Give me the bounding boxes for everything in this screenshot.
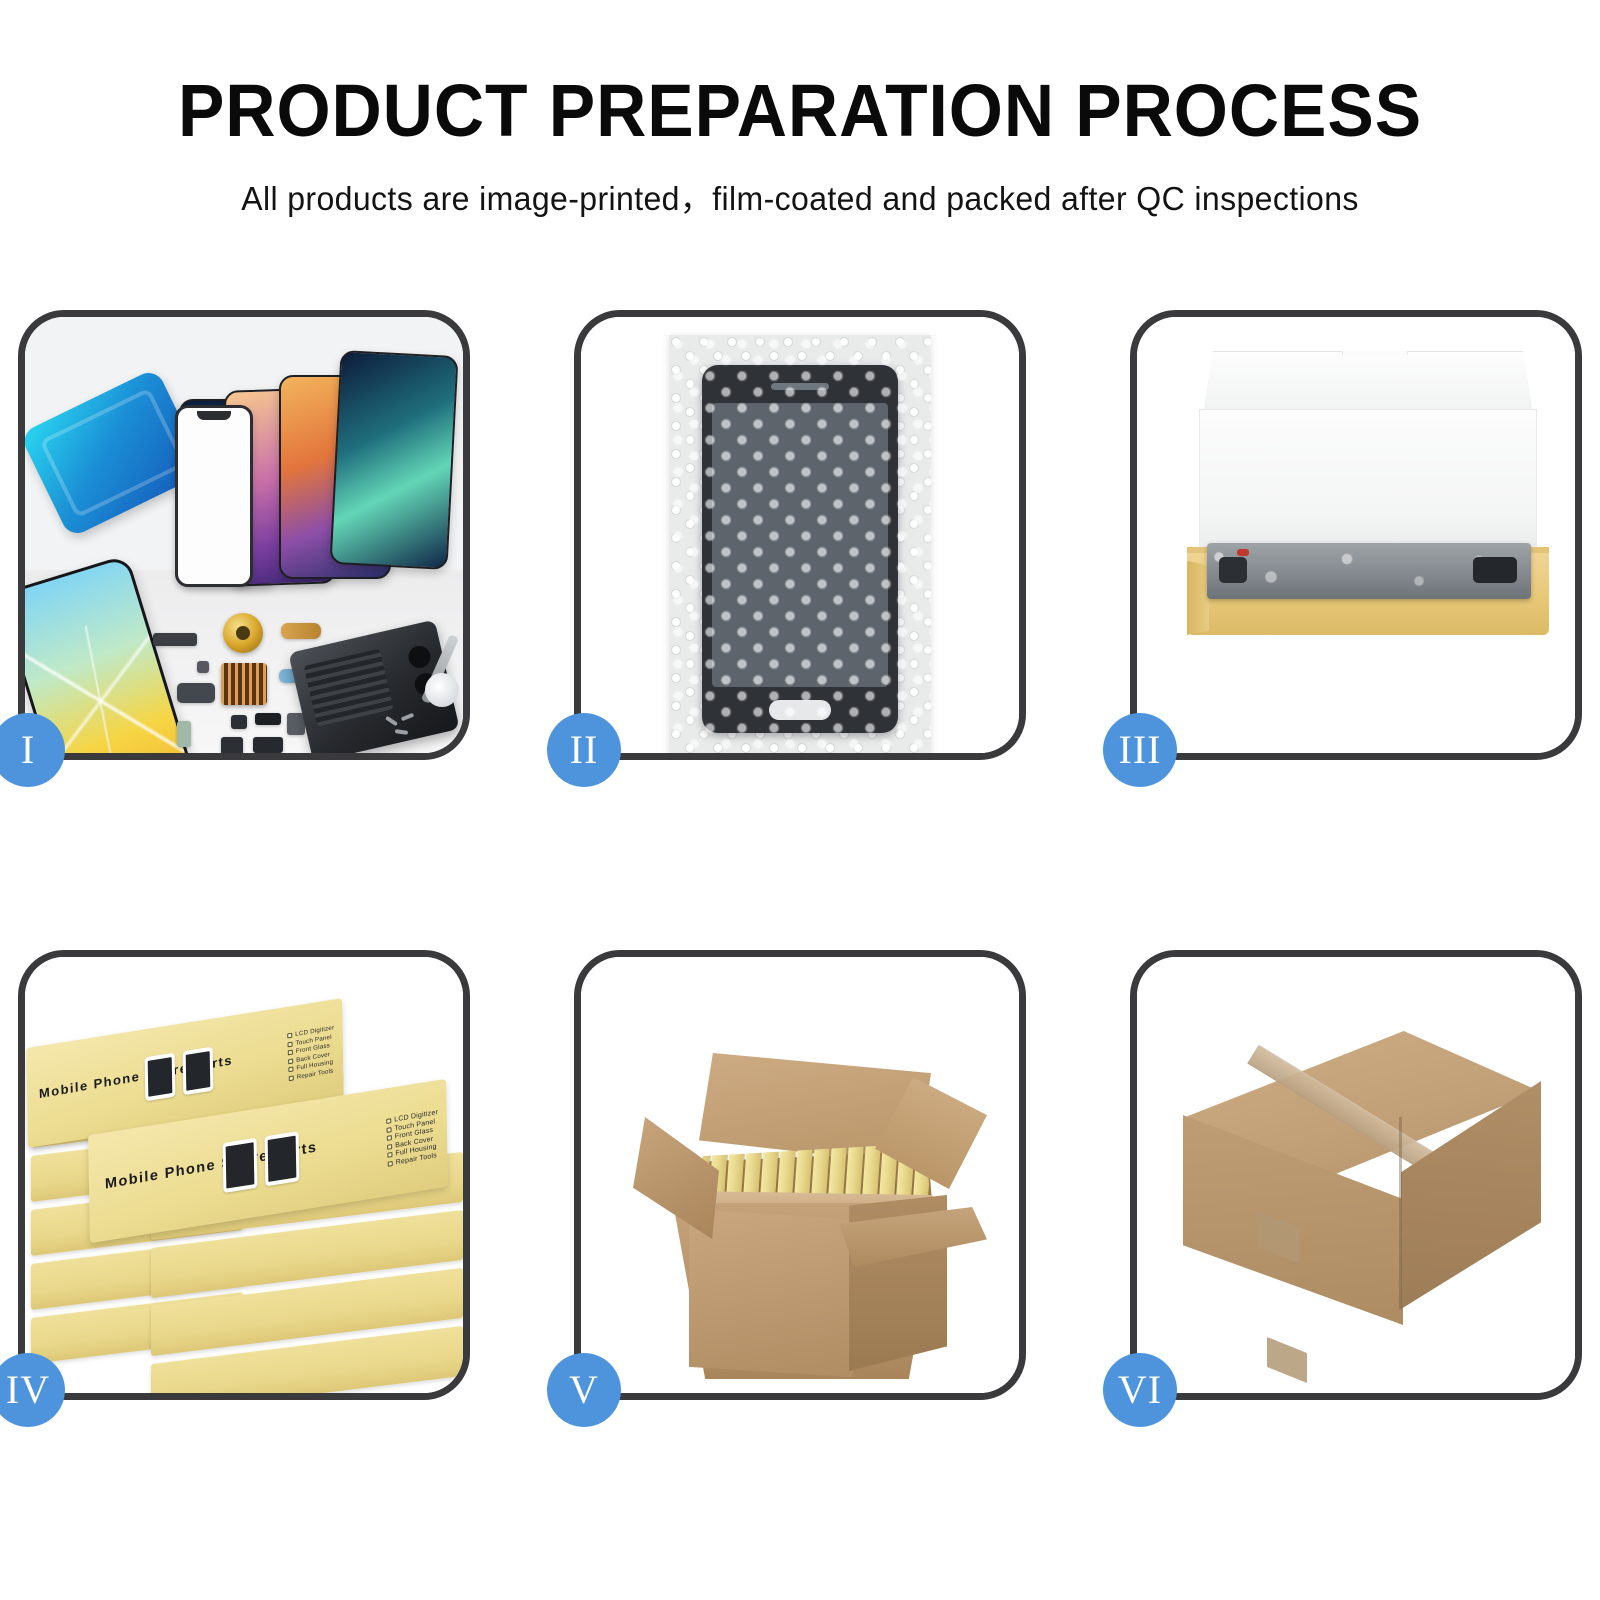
foam-lining (1199, 409, 1537, 557)
sim-tray-part (177, 721, 191, 747)
step-image-open-mailer-box (1137, 317, 1575, 753)
carton-corner-seam (1399, 1117, 1402, 1309)
open-shipping-carton-image (581, 957, 1019, 1393)
checkbox-icon (288, 1058, 293, 1064)
page-subtitle: All products are image-printed，film-coat… (24, 172, 1576, 220)
screen-pane (712, 403, 888, 687)
checkbox-icon (289, 1075, 294, 1081)
small-component-part (231, 715, 247, 729)
header: PRODUCT PREPARATION PROCESS All products… (0, 72, 1600, 220)
retail-box-checklist: LCD Digitizer Touch Panel Front Glass Ba… (386, 1109, 440, 1167)
process-step-card-4: Mobile Phone Spare Parts LCD Digitizer T… (18, 950, 470, 1400)
sealed-shipping-carton-image (1137, 957, 1575, 1393)
process-step-card-3: III (1130, 310, 1582, 760)
process-step-card-1: I (18, 310, 470, 760)
gold-flex-cable-part (281, 623, 321, 639)
checkbox-icon (288, 1050, 293, 1056)
step-badge-2: II (547, 713, 621, 787)
product-thumbnail (222, 1138, 257, 1193)
earpiece-slot (771, 383, 829, 390)
checkbox-icon (287, 1041, 292, 1047)
product-thumbnail (144, 1053, 175, 1102)
phone-parts-collage-image (25, 317, 463, 753)
page-title: PRODUCT PREPARATION PROCESS (48, 72, 1552, 150)
checkbox-icon (388, 1152, 393, 1158)
checkbox-icon (288, 1066, 293, 1072)
process-step-card-6: VI (1130, 950, 1582, 1400)
home-button (769, 700, 831, 720)
checkbox-icon (388, 1160, 393, 1166)
screws-group (385, 715, 429, 741)
mailer-side-flap (1187, 561, 1209, 635)
step-badge-3: III (1103, 713, 1177, 787)
checkbox-icon (387, 1135, 392, 1141)
small-component-part (197, 661, 209, 673)
carton-tape-tab (1267, 1337, 1307, 1383)
checkbox-icon (386, 1118, 391, 1124)
checkbox-icon (387, 1143, 392, 1149)
step-image-bubble-wrapped-screen (581, 317, 1019, 753)
mailer-lid (1203, 351, 1533, 413)
tempered-glass-sheet (175, 405, 253, 587)
screen-notch (197, 411, 231, 420)
open-mailer-box-image (1137, 317, 1575, 753)
phone-display-teal (329, 350, 458, 570)
process-step-card-2: II (574, 310, 1026, 760)
step-badge-6: VI (1103, 1353, 1177, 1427)
step-badge-5: V (547, 1353, 621, 1427)
wrapped-screen-inside-box (1207, 543, 1531, 599)
checkbox-icon (287, 1033, 292, 1039)
carton-front-panel (689, 1209, 853, 1377)
step-image-phone-parts-collage (25, 317, 463, 753)
retail-box-product-thumbnails (222, 1131, 299, 1193)
small-component-part (255, 713, 281, 725)
cleaning-brush-tool (425, 673, 459, 707)
phone-digitizer-screen (702, 365, 898, 733)
product-thumbnail (182, 1047, 213, 1096)
ic-chip-part (221, 663, 267, 705)
step-badge-4: IV (0, 1353, 65, 1427)
checkbox-icon (387, 1127, 392, 1133)
retail-box-checklist: LCD Digitizer Touch Panel Front Glass Ba… (287, 1024, 336, 1081)
connector-part (177, 683, 215, 703)
product-thumbnail (264, 1131, 299, 1186)
process-step-grid: I II (18, 310, 1582, 1400)
process-step-card-5: V (574, 950, 1026, 1400)
step-image-open-shipping-carton (581, 957, 1019, 1393)
speaker-disc-part (223, 613, 263, 653)
stacked-retail-boxes-image: Mobile Phone Spare Parts LCD Digitizer T… (25, 957, 463, 1393)
step-image-sealed-shipping-carton (1137, 957, 1575, 1393)
flex-cable-part (153, 633, 197, 646)
step-badge-1: I (0, 713, 65, 787)
bubble-wrapped-screen-image (581, 317, 1019, 753)
infographic-page: PRODUCT PREPARATION PROCESS All products… (0, 0, 1600, 1600)
small-component-part (253, 737, 283, 753)
screen-connector-left (1219, 557, 1247, 583)
retail-box-product-thumbnails (144, 1047, 213, 1102)
step-image-stacked-retail-boxes: Mobile Phone Spare Parts LCD Digitizer T… (25, 957, 463, 1393)
red-marker-dot (1237, 549, 1249, 556)
screen-connector-right (1473, 557, 1517, 583)
small-component-part (221, 737, 243, 753)
